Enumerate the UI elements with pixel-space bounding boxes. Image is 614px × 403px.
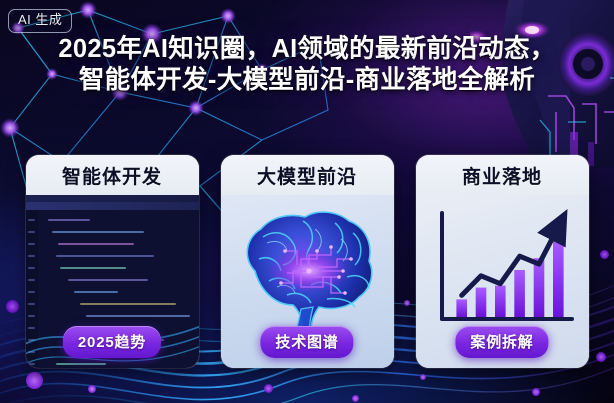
ai-generated-badge: AI 生成 <box>8 9 72 33</box>
brain-illustration <box>227 207 389 335</box>
growth-chart-illustration <box>428 205 578 333</box>
card-title: 智能体开发 <box>26 155 199 195</box>
feature-card-row: 智能体开发 <box>0 155 614 369</box>
page-title: 2025年AI知识圈，AI领域的最新前沿动态， 智能体开发-大模型前沿-商业落地… <box>0 34 614 96</box>
card-visual: 案例拆解 <box>416 195 589 368</box>
card-visual: 技术图谱 <box>221 195 394 368</box>
chart-bar <box>553 241 564 317</box>
chart-bar <box>475 288 486 317</box>
card-agent-development[interactable]: 智能体开发 <box>26 155 199 368</box>
chart-bar <box>533 258 544 317</box>
card-visual: 2025趋势 <box>26 195 199 368</box>
card-business-landing[interactable]: 商业落地 <box>416 155 589 368</box>
headline-line-2: 智能体开发-大模型前沿-商业落地全解析 <box>0 65 614 96</box>
card-large-model-frontier[interactable]: 大模型前沿 <box>221 155 394 368</box>
card-title: 大模型前沿 <box>221 155 394 195</box>
card-badge[interactable]: 案例拆解 <box>455 326 548 358</box>
chart-bar <box>456 299 467 317</box>
chart-bar <box>514 270 525 317</box>
headline-line-1: 2025年AI知识圈，AI领域的最新前沿动态， <box>0 34 614 65</box>
card-badge[interactable]: 2025趋势 <box>63 326 161 358</box>
chart-bar <box>495 286 506 317</box>
poster-canvas: AI 生成 2025年AI知识圈，AI领域的最新前沿动态， 智能体开发-大模型前… <box>0 0 614 403</box>
card-badge[interactable]: 技术图谱 <box>260 326 353 358</box>
card-title: 商业落地 <box>416 155 589 195</box>
